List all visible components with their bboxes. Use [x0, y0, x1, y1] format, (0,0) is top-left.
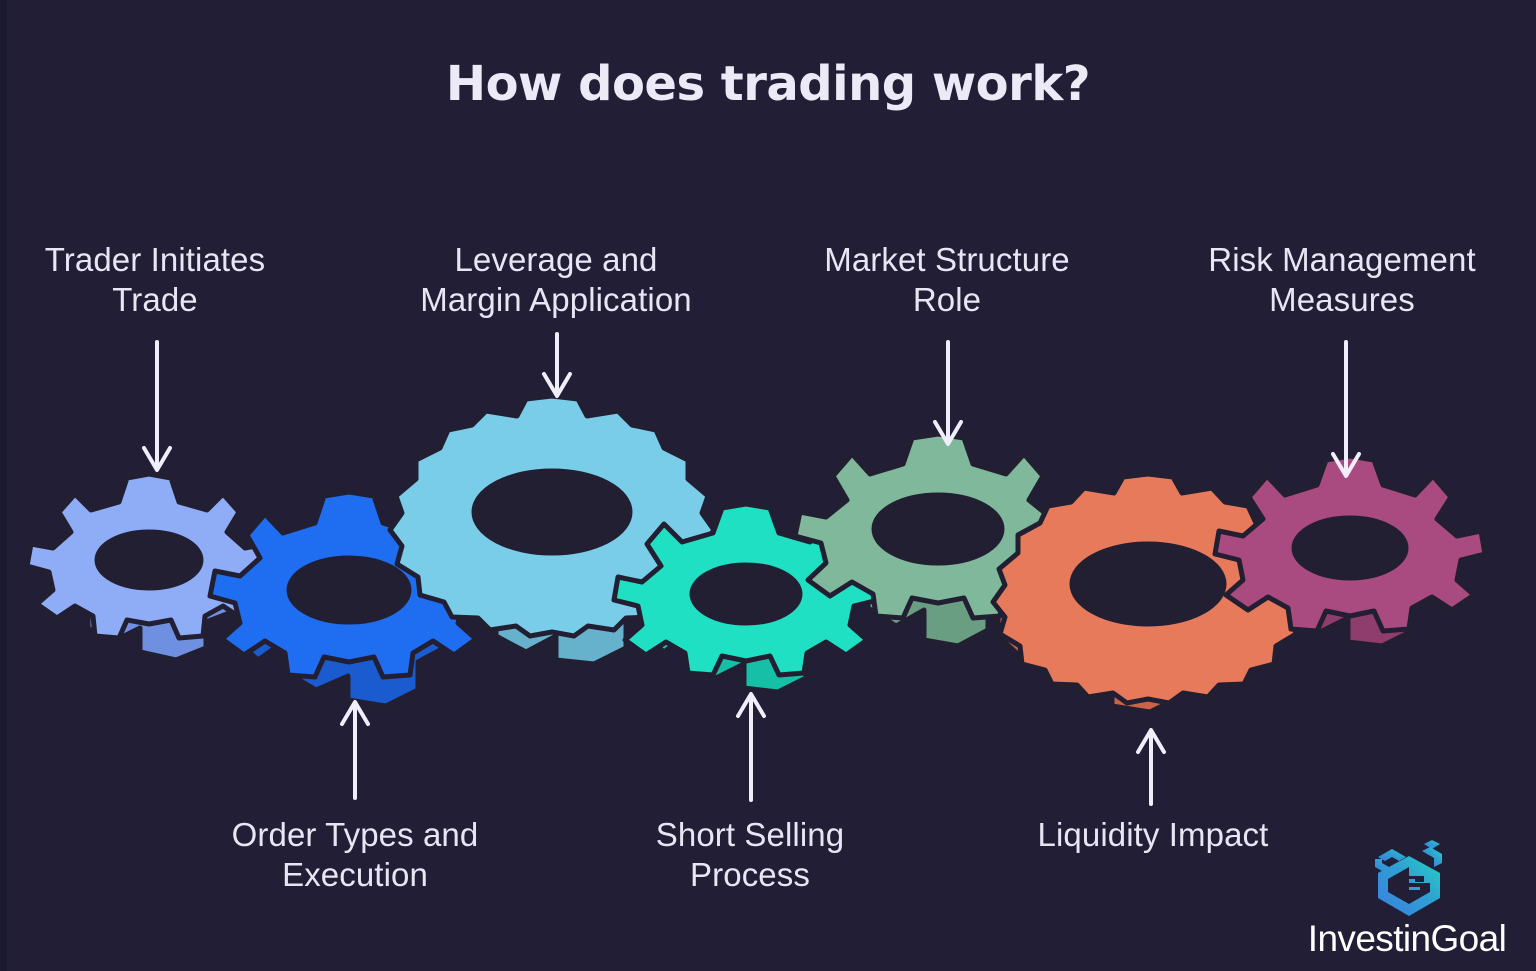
- gear-trader-initiates-trade: [46, 512, 253, 660]
- step-label-leverage-and-margin-application: Leverage and Margin Application: [406, 240, 706, 321]
- arrow-up-order-types-and-execution: [338, 700, 372, 800]
- brand-logo[interactable]: InvestinGoal: [1294, 836, 1520, 956]
- arrow-down-trader-initiates-trade: [140, 340, 174, 476]
- step-label-line-1: Risk Management: [1192, 240, 1492, 280]
- infographic-canvas: How does trading work?: [0, 0, 1536, 971]
- step-label-line-1: Trader Initiates: [10, 240, 300, 280]
- step-label-line-2: Role: [800, 280, 1094, 320]
- step-label-order-types-and-execution: Order Types and Execution: [205, 815, 505, 896]
- step-label-line-1: Liquidity Impact: [1008, 815, 1298, 855]
- arrow-up-liquidity-impact: [1134, 728, 1168, 806]
- step-label-liquidity-impact: Liquidity Impact: [1008, 815, 1298, 855]
- step-label-market-structure-role: Market Structure Role: [800, 240, 1094, 321]
- step-label-line-2: Process: [620, 855, 880, 895]
- step-label-line-1: Short Selling: [620, 815, 880, 855]
- brand-wordmark: InvestinGoal: [1294, 920, 1520, 957]
- step-label-line-1: Order Types and: [205, 815, 505, 855]
- gear-risk-management-measures: [1248, 517, 1452, 646]
- step-label-line-2: Trade: [10, 280, 300, 320]
- step-label-line-1: Market Structure: [800, 240, 1094, 280]
- step-label-line-2: Execution: [205, 855, 505, 895]
- step-label-line-2: Measures: [1192, 280, 1492, 320]
- arrow-down-market-structure-role: [931, 340, 965, 450]
- arrow-down-leverage-and-margin-application: [540, 332, 574, 402]
- arrow-up-short-selling-process: [734, 692, 768, 802]
- step-label-line-2: Margin Application: [406, 280, 706, 320]
- step-label-line-1: Leverage and: [406, 240, 706, 280]
- investingoal-hexagon-g-icon: [1362, 836, 1456, 922]
- step-label-trader-initiates-trade: Trader Initiates Trade: [10, 240, 300, 321]
- arrow-down-risk-management-measures: [1329, 340, 1363, 482]
- step-label-short-selling-process: Short Selling Process: [620, 815, 880, 896]
- step-label-risk-management-measures: Risk Management Measures: [1192, 240, 1492, 321]
- gear-order-types-and-execution: [236, 557, 462, 706]
